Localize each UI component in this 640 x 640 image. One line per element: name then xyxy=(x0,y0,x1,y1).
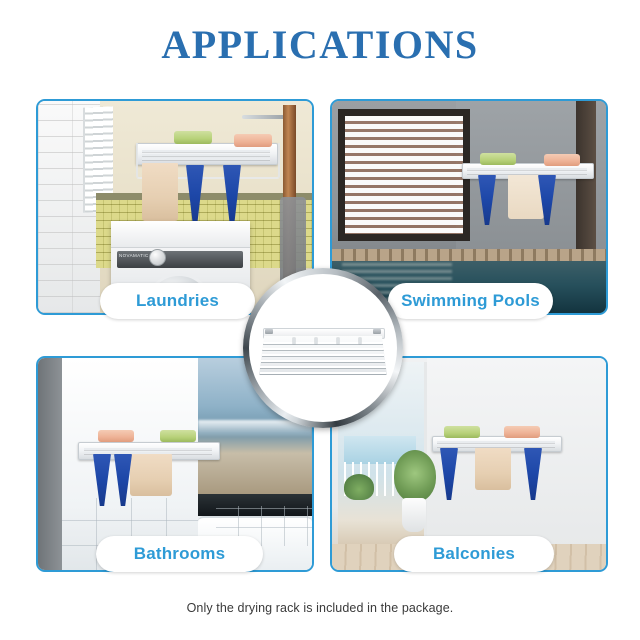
folded-linen-green xyxy=(444,426,480,438)
washing-machine-top xyxy=(111,221,250,248)
towel-beige xyxy=(142,163,178,221)
rack-bar xyxy=(84,448,213,450)
rack-bar xyxy=(263,342,383,344)
rack-bar xyxy=(437,441,555,443)
label-text: Laundries xyxy=(136,291,219,311)
folded-linen-pink xyxy=(504,426,540,438)
scene-laundries-photo: NOVAMATIC xyxy=(38,101,312,313)
label-swimming-pools[interactable]: Swimming Pools xyxy=(388,283,553,319)
product-callout-inner xyxy=(249,274,397,422)
window xyxy=(338,109,470,241)
label-text: Swimming Pools xyxy=(401,291,540,311)
product-callout-circle xyxy=(243,268,403,428)
rack-body xyxy=(259,336,387,375)
rack-bar xyxy=(262,354,385,356)
label-laundries[interactable]: Laundries xyxy=(100,283,255,319)
rack-clip xyxy=(315,338,317,344)
label-text: Balconies xyxy=(433,544,515,564)
rack-bar xyxy=(261,360,385,362)
rack-endcap-left xyxy=(265,329,273,334)
folded-linen-green xyxy=(480,153,516,165)
rack-bar xyxy=(260,372,387,374)
rack-bar xyxy=(260,366,385,368)
footer-note: Only the drying rack is included in the … xyxy=(0,601,640,615)
folded-linen-pink xyxy=(98,430,134,442)
outdoor-greenery xyxy=(344,474,374,500)
scene-swimming-pools-photo xyxy=(332,101,606,313)
rack-clip xyxy=(293,338,295,344)
folded-linen-green xyxy=(174,131,212,144)
folded-linen-pink xyxy=(544,154,580,166)
rack-clip xyxy=(337,338,339,344)
label-text: Bathrooms xyxy=(134,544,226,564)
rack-bar xyxy=(262,348,384,350)
applications-infographic: APPLICATIONS NOVAMATIC xyxy=(0,0,640,640)
rack-endcap-right xyxy=(373,329,381,334)
towel-cream xyxy=(508,175,544,219)
wall-hook xyxy=(242,115,286,119)
control-dial xyxy=(149,249,166,266)
appliance-brand-label: NOVAMATIC xyxy=(119,253,149,258)
pool-stone-edge xyxy=(332,249,606,261)
towel-beige xyxy=(130,454,172,496)
side-wall xyxy=(38,358,62,570)
window-blinds xyxy=(345,116,463,234)
folded-linen-pink xyxy=(234,134,272,147)
rack-bar xyxy=(437,445,555,447)
potted-plant-foliage xyxy=(394,450,436,502)
page-title: APPLICATIONS xyxy=(0,23,640,67)
rack-bar xyxy=(467,168,587,170)
plant-pot xyxy=(402,498,426,532)
rack-bar xyxy=(467,172,587,174)
towel-beige xyxy=(475,448,511,490)
folded-linen-green xyxy=(160,430,196,442)
label-balconies[interactable]: Balconies xyxy=(394,536,554,572)
rack-clip xyxy=(359,338,361,344)
product-drying-rack xyxy=(263,328,383,374)
label-bathrooms[interactable]: Bathrooms xyxy=(96,536,263,572)
